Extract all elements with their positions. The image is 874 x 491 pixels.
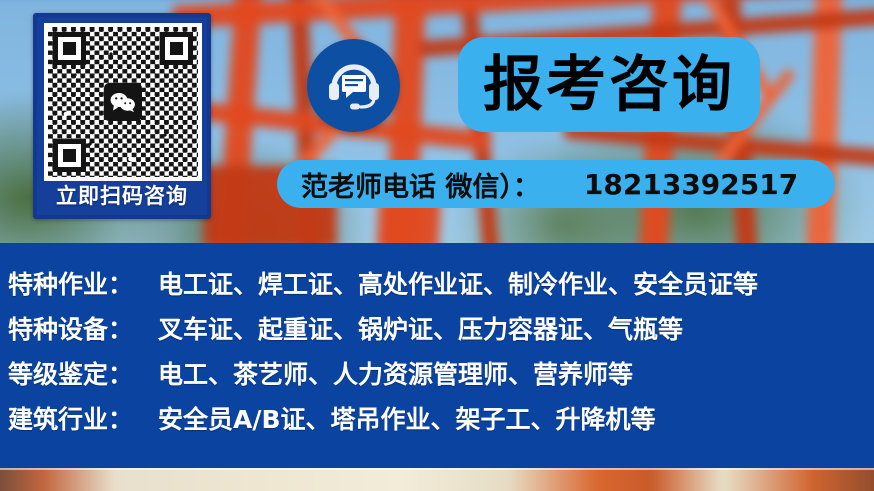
info-category-label: 等级鉴定： [8,355,158,391]
qr-finder-top-left [53,32,86,65]
info-row-special-equipment: 特种设备： 叉车证、起重证、锅炉证、压力容器证、气瓶等 [8,310,874,355]
info-items-label: 电工、茶艺师、人力资源管理师、营养师等 [158,355,633,391]
contact-label: 范老师电话 微信）： [301,165,540,204]
info-category-label: 建筑行业： [8,400,158,436]
wechat-icon [104,83,142,121]
main-title-pill: 报考咨询 [458,37,760,132]
qr-code-image[interactable] [44,23,202,181]
qr-finder-bottom-left [53,139,86,172]
info-row-special-operations: 特种作业： 电工证、焊工证、高处作业证、制冷作业、安全员证等 [8,265,874,310]
info-category-label: 特种设备： [8,310,158,346]
contact-phone-pill[interactable]: 范老师电话 微信）： 18213392517 [277,160,835,208]
strip-divider-line [0,468,874,470]
qr-code-label: 立即扫码咨询 [37,181,207,211]
promo-poster: 立即扫码咨询 报考咨询 范老师电话 微信） [0,0,874,491]
qr-finder-top-right [160,32,193,65]
info-category-label: 特种作业： [8,265,158,301]
bottom-strip-image [0,468,874,491]
qr-code-card[interactable]: 立即扫码咨询 [33,13,211,219]
info-items-label: 电工证、焊工证、高处作业证、制冷作业、安全员证等 [158,265,758,301]
info-row-construction-industry: 建筑行业： 安全员A/B证、塔吊作业、架子工、升降机等 [8,400,874,445]
certification-info-panel: 特种作业： 电工证、焊工证、高处作业证、制冷作业、安全员证等 特种设备： 叉车证… [0,243,874,468]
info-items-label: 安全员A/B证、塔吊作业、架子工、升降机等 [158,400,656,436]
qr-matrix [48,27,198,177]
bottom-photo-strip [0,468,874,491]
headset-support-badge [307,39,400,132]
page-title: 报考咨询 [483,55,735,115]
certification-rows: 特种作业： 电工证、焊工证、高处作业证、制冷作业、安全员证等 特种设备： 叉车证… [8,265,874,445]
contact-phone-number[interactable]: 18213392517 [584,168,798,201]
headset-icon [326,57,382,115]
info-row-grade-assessment: 等级鉴定： 电工、茶艺师、人力资源管理师、营养师等 [8,355,874,400]
info-items-label: 叉车证、起重证、锅炉证、压力容器证、气瓶等 [158,310,683,346]
